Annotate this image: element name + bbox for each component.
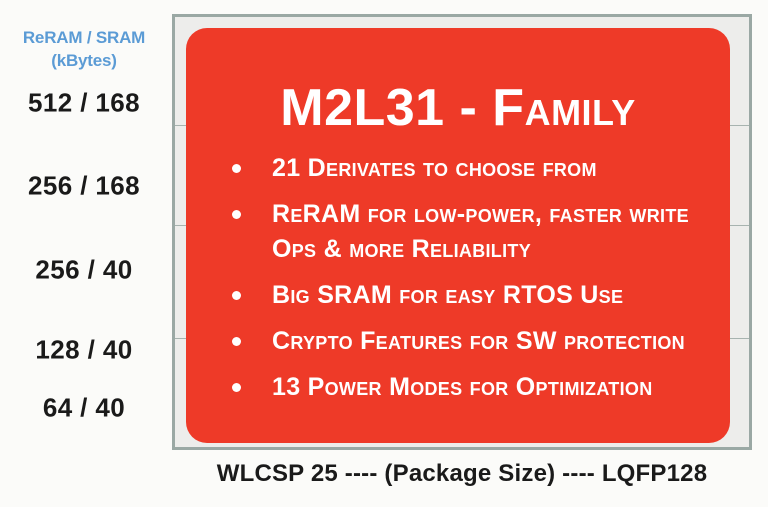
list-item: Crypto Features for SW protection — [232, 324, 712, 359]
list-item-label: 13 Power Modes for Optimization — [272, 373, 653, 401]
list-item: Big SRAM for easy RTOS Use — [232, 278, 712, 313]
axis-label-256-40: 256 / 40 — [0, 255, 168, 286]
list-item-label: Crypto Features for SW protection — [272, 327, 685, 355]
list-item: 13 Power Modes for Optimization — [232, 370, 712, 405]
card-title: M2L31 - Family — [186, 82, 730, 134]
axis-label-64-40: 64 / 40 — [0, 393, 168, 424]
diagram-canvas: ReRAM / SRAM (kBytes) 512 / 168 256 / 16… — [0, 0, 768, 507]
list-item-label: Big SRAM for easy RTOS Use — [272, 281, 623, 309]
list-item: 21 Derivates to choose from — [232, 151, 712, 186]
bullet-dot-icon — [232, 291, 241, 300]
axis-label-128-40: 128 / 40 — [0, 335, 168, 366]
axis-label-512-168: 512 / 168 — [0, 88, 168, 119]
bullet-dot-icon — [232, 210, 241, 219]
bullet-dot-icon — [232, 164, 241, 173]
axis-header-line-1: ReRAM / SRAM — [0, 26, 168, 49]
list-item-label: ReRAM for low-power, faster write Ops & … — [272, 200, 689, 263]
axis-label-256-168: 256 / 168 — [0, 171, 168, 202]
axis-header: ReRAM / SRAM (kBytes) — [0, 26, 168, 72]
axis-header-line-2: (kBytes) — [0, 49, 168, 72]
list-item: ReRAM for low-power, faster write Ops & … — [232, 197, 712, 267]
memory-axis-column: ReRAM / SRAM (kBytes) 512 / 168 256 / 16… — [0, 0, 168, 455]
bullet-dot-icon — [232, 337, 241, 346]
bullet-dot-icon — [232, 383, 241, 392]
family-feature-card: M2L31 - Family 21 Derivates to choose fr… — [186, 28, 730, 443]
package-size-caption: WLCSP 25 ---- (Package Size) ---- LQFP12… — [172, 460, 752, 488]
list-item-label: 21 Derivates to choose from — [272, 154, 597, 182]
feature-bullet-list: 21 Derivates to choose from ReRAM for lo… — [232, 151, 712, 416]
